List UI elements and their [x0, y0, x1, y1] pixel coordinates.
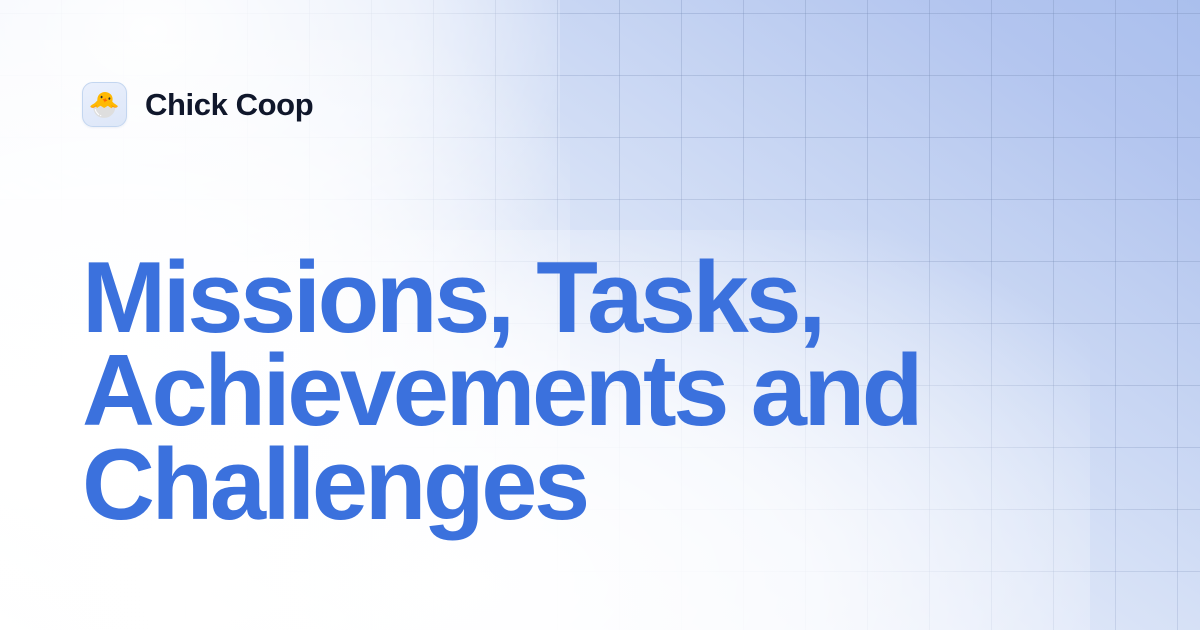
og-card: 🐣 Chick Coop Missions, Tasks, Achievemen…	[0, 0, 1200, 630]
brand: 🐣 Chick Coop	[82, 82, 313, 127]
page-title: Missions, Tasks, Achievements and Challe…	[82, 252, 1082, 532]
card-content: 🐣 Chick Coop Missions, Tasks, Achievemen…	[0, 0, 1200, 630]
hatching-chick-icon: 🐣	[82, 82, 127, 127]
brand-name: Chick Coop	[145, 89, 313, 120]
